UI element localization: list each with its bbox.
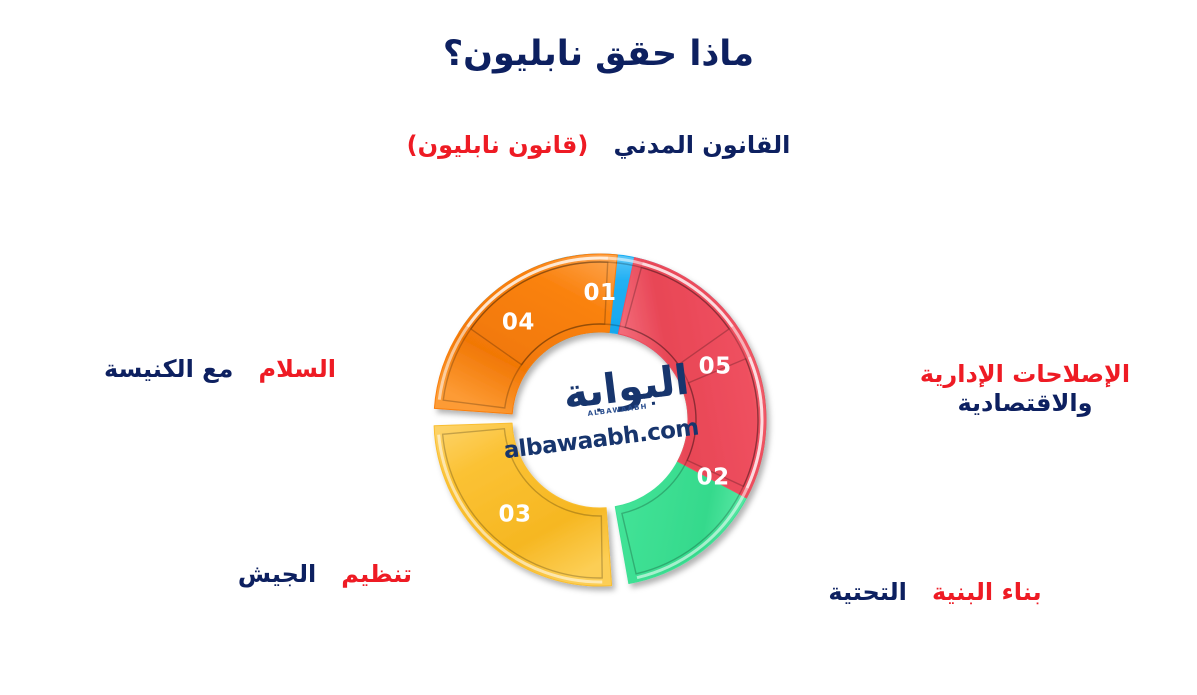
segment-label-02-navy: والاقتصادية [957,389,1092,417]
donut-chart: 0102030405 [348,168,852,672]
segment-label-03: بناء البنية التحتية [790,578,1080,607]
page-title: ماذا حقق نابليون؟ [0,34,1197,74]
infographic-canvas: ماذا حقق نابليون؟ [0,0,1197,695]
segment-label-03-red: بناء البنية [932,578,1042,606]
segment-label-04-red: تنظيم [341,560,412,588]
segment-label-04-navy: الجيش [238,560,316,588]
segment-label-05-red: السلام [258,355,335,383]
segment-number-04: 04 [502,310,535,336]
segment-label-01-red: (قانون نابليون) [407,131,589,159]
segment-label-05-navy: مع الكنيسة [104,355,233,383]
segment-label-01: القانون المدني (قانون نابليون) [0,131,1197,160]
segment-label-02: الإصلاحات الإدارية والاقتصادية [860,360,1190,419]
segment-number-01: 01 [583,280,616,306]
segment-label-02-red: الإصلاحات الإدارية [920,360,1130,388]
segment-label-04: تنظيم الجيش [210,560,440,589]
segment-label-01-navy: القانون المدني [613,131,790,159]
segment-label-03-navy: التحتية [828,578,906,606]
segment-number-02: 02 [697,465,730,491]
segment-number-05: 05 [699,353,732,379]
segment-label-05: السلام مع الكنيسة [60,355,380,384]
segment-number-03: 03 [499,501,532,527]
